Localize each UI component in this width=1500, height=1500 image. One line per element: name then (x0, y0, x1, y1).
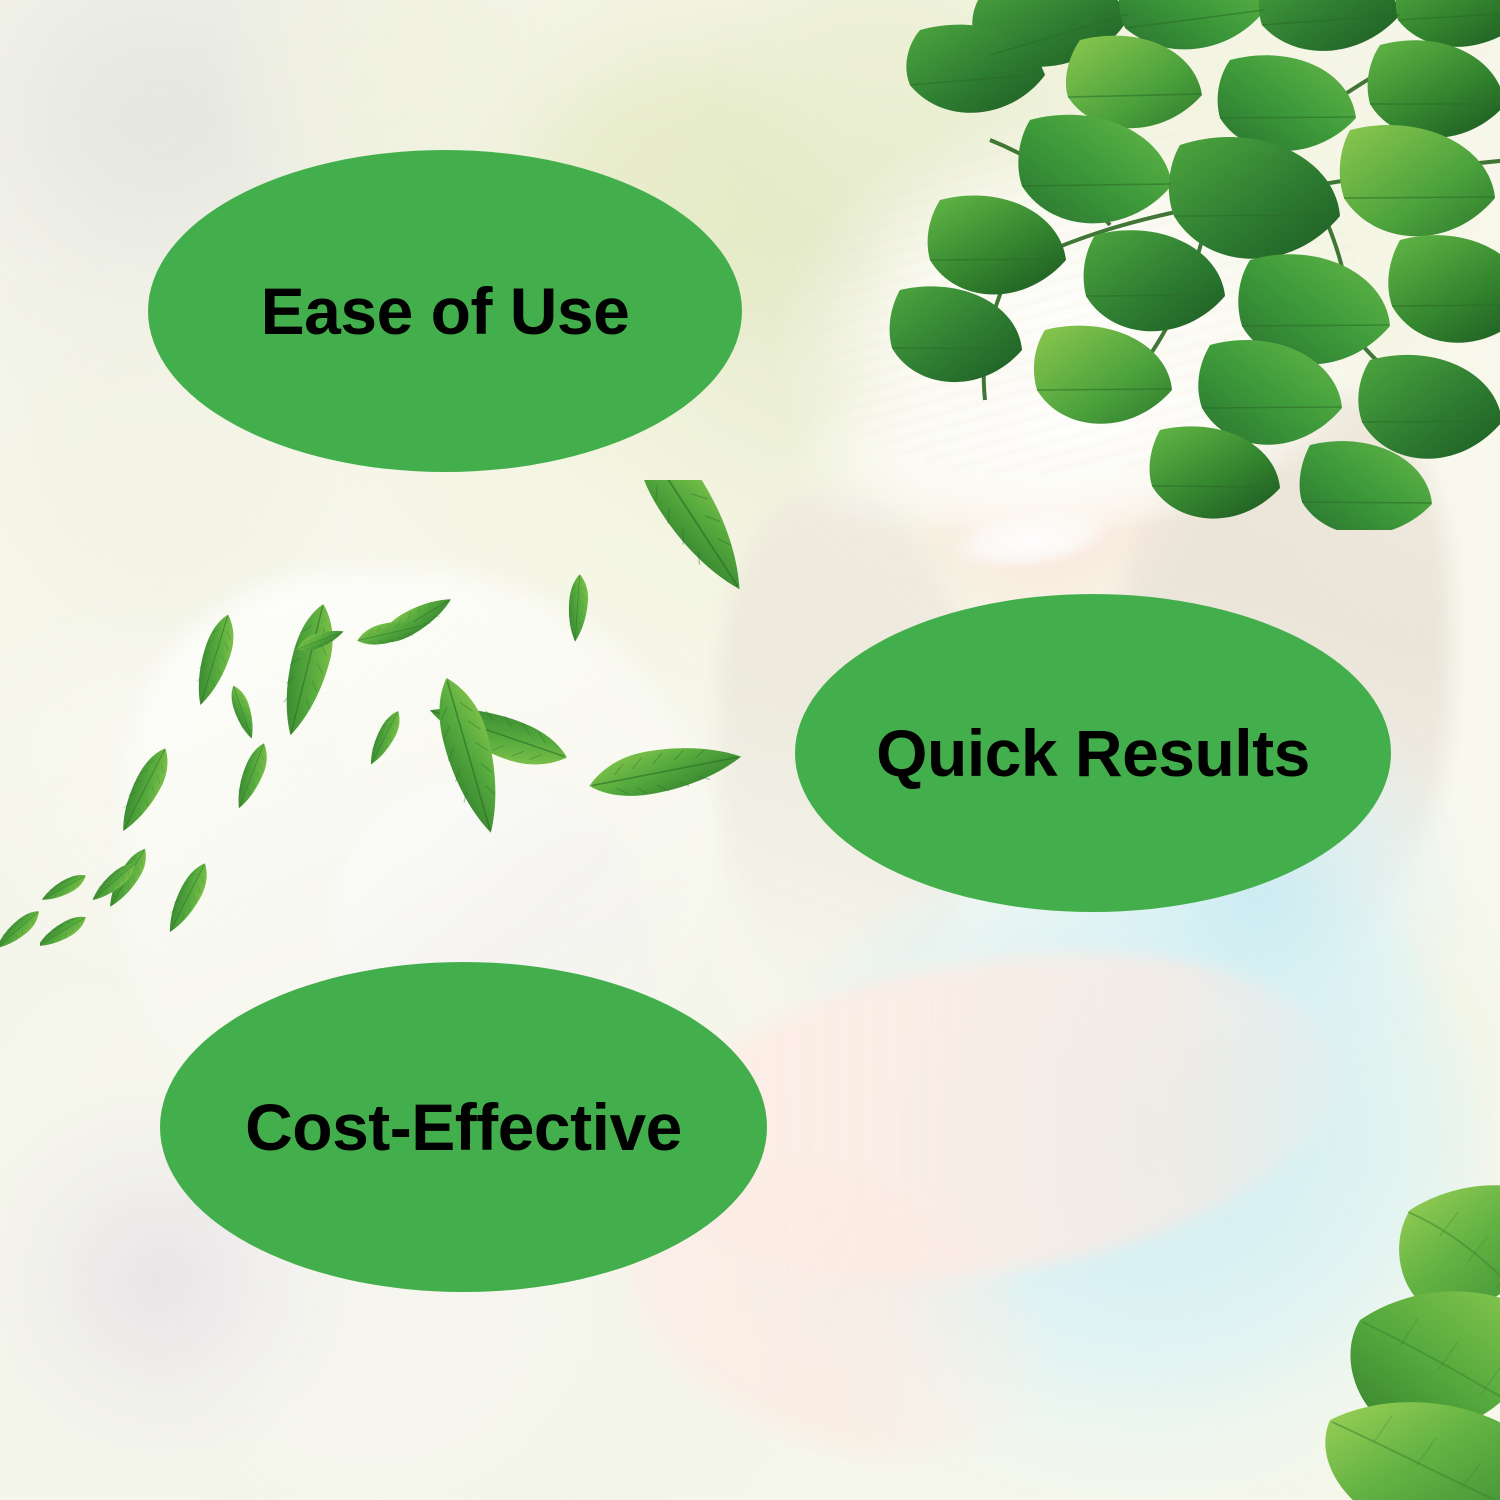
benefit-label-cost-effective: Cost-Effective (245, 1094, 682, 1160)
benefit-label-quick-results: Quick Results (876, 720, 1310, 786)
benefit-pill-cost-effective[interactable]: Cost-Effective (160, 962, 767, 1292)
benefit-pill-quick-results[interactable]: Quick Results (795, 594, 1391, 912)
benefit-label-ease-of-use: Ease of Use (261, 278, 630, 344)
benefit-pill-ease-of-use[interactable]: Ease of Use (148, 150, 742, 472)
infographic-canvas: Ease of Use Quick Results Cost-Effective (0, 0, 1500, 1500)
